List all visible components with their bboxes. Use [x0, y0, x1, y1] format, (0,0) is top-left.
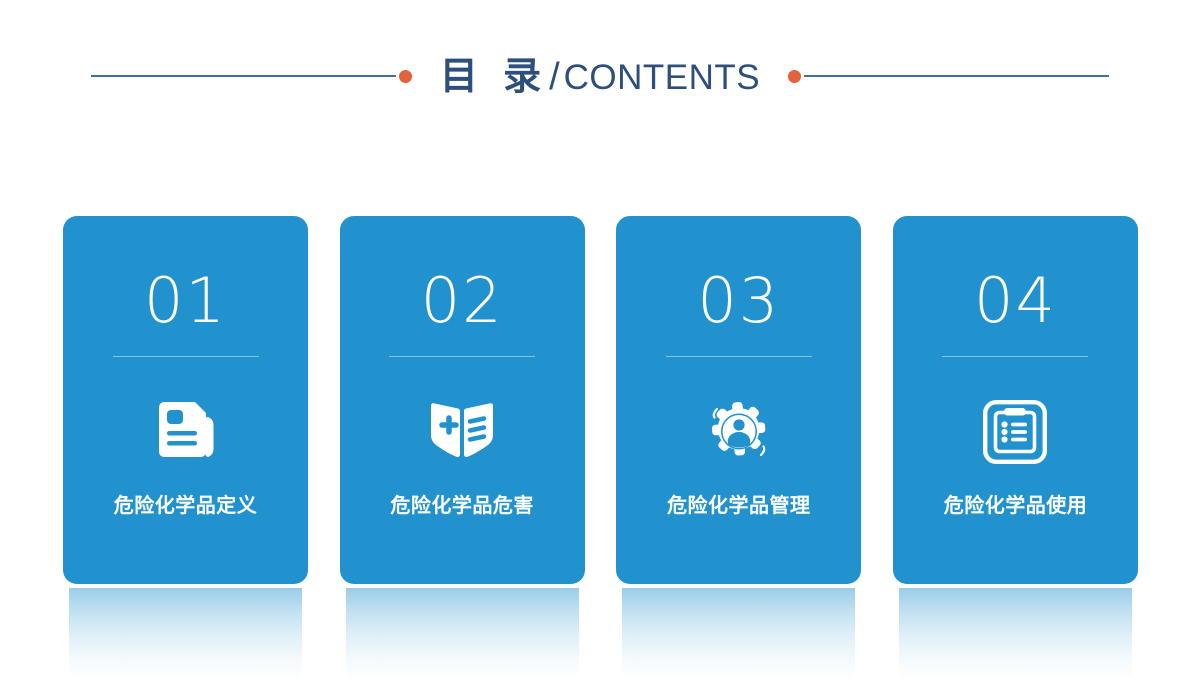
- page-title: 目 录/CONTENTS: [412, 57, 788, 96]
- card-wrap-02: 02 危险化学品危害: [340, 216, 585, 596]
- card-divider-01: [113, 356, 259, 357]
- contents-card-list: 01 危险化学品定义 02: [63, 216, 1138, 596]
- card-divider-04: [942, 356, 1088, 357]
- page-title-en: CONTENTS: [564, 58, 761, 97]
- card-reflection-01: [69, 588, 302, 680]
- card-wrap-01: 01 危险化学品定义: [63, 216, 308, 596]
- card-wrap-03: 03: [616, 216, 861, 596]
- rule-line-left: [91, 75, 396, 77]
- decorative-rule-right: [788, 70, 1109, 83]
- card-label-04: 危险化学品使用: [944, 489, 1088, 518]
- card-divider-03: [666, 356, 812, 357]
- header-inner: 目 录/CONTENTS: [95, 57, 1105, 96]
- contents-card-03[interactable]: 03: [616, 216, 861, 584]
- card-reflection-04: [899, 588, 1132, 680]
- card-number-01: 01: [144, 270, 227, 332]
- card-label-01: 危险化学品定义: [114, 489, 258, 518]
- card-number-03: 03: [697, 270, 780, 332]
- rule-dot-left-icon: [399, 70, 412, 83]
- page-title-separator: /: [547, 56, 564, 98]
- document-certificate-icon: [151, 399, 221, 465]
- contents-card-01[interactable]: 01 危险化学品定义: [63, 216, 308, 584]
- contents-card-02[interactable]: 02 危险化学品危害: [340, 216, 585, 584]
- card-reflection-03: [622, 588, 855, 680]
- page-title-cn: 目 录: [440, 54, 547, 98]
- gear-person-icon: [704, 399, 774, 465]
- rule-line-right: [804, 75, 1109, 77]
- card-number-04: 04: [974, 270, 1057, 332]
- card-wrap-04: 04 危险化学品使用: [893, 216, 1138, 596]
- card-reflection-02: [346, 588, 579, 680]
- decorative-rule-left: [91, 70, 412, 83]
- shield-book-plus-icon: [427, 399, 497, 465]
- clipboard-checklist-icon: [980, 399, 1050, 465]
- card-label-03: 危险化学品管理: [667, 489, 811, 518]
- contents-card-04[interactable]: 04 危险化学品使用: [893, 216, 1138, 584]
- rule-dot-right-icon: [788, 70, 801, 83]
- slide-header: 目 录/CONTENTS: [0, 0, 1200, 140]
- card-label-02: 危险化学品危害: [390, 489, 534, 518]
- card-number-02: 02: [421, 270, 504, 332]
- card-divider-02: [389, 356, 535, 357]
